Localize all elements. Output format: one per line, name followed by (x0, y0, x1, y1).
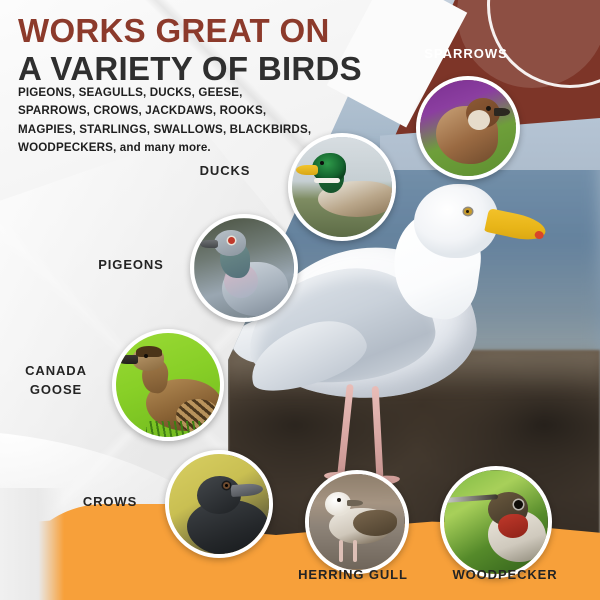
herring-gull-leg-left (339, 540, 343, 562)
herring-gull-leg-right (353, 540, 357, 562)
headline-line-2: A VARIETY OF BIRDS (18, 51, 418, 87)
gull-leg-left (337, 384, 354, 476)
crow-eye (223, 482, 230, 489)
duck-eye (320, 161, 324, 165)
label-herring-gull: HERRING GULL (288, 567, 418, 582)
herring-gull-eye (337, 498, 341, 502)
label-canada-goose: CANADA GOOSE (10, 362, 102, 400)
herring-gull-thumb (305, 470, 409, 574)
herring-gull-beak (347, 500, 363, 506)
woodpecker-thumb (440, 466, 552, 578)
sparrow-cheek (468, 110, 490, 130)
duck-beak (296, 165, 318, 175)
pigeon-photo (194, 218, 294, 318)
label-ducks: DUCKS (188, 163, 262, 178)
herring-gull-wing (353, 510, 397, 536)
sparrow-thumb (416, 76, 520, 180)
species-line-1: PIGEONS, SEAGULLS, DUCKS, GEESE, (18, 84, 348, 102)
duck-thumb (288, 133, 396, 241)
label-sparrows: SPARROWS (418, 46, 514, 61)
gull-leg-right (372, 386, 384, 478)
orange-band-left-fade (0, 488, 64, 600)
pigeon-beak (200, 240, 218, 248)
pigeon-thumb (190, 214, 298, 322)
gull-eye (464, 208, 472, 215)
goose-thumb (112, 329, 224, 441)
label-woodpecker: WOODPECKER (442, 567, 568, 582)
herring-gull-photo (309, 474, 405, 570)
duck-photo (292, 137, 392, 237)
woodpecker-eye (514, 500, 523, 509)
label-crows: CROWS (72, 494, 148, 509)
goose-grass (146, 421, 206, 437)
pigeon-eye (228, 237, 235, 244)
duck-neck-ring (314, 178, 340, 183)
woodpecker-throat (498, 514, 528, 538)
goose-beak (116, 355, 138, 364)
gull-beak (484, 208, 548, 244)
label-pigeons: PIGEONS (90, 257, 172, 272)
sparrow-eye (486, 106, 491, 111)
species-line-2: SPARROWS, CROWS, JACKDAWS, ROOKS, (18, 102, 348, 120)
headline-line-1: WORKS GREAT ON (18, 14, 418, 49)
sparrow-beak (494, 108, 510, 116)
goose-crown (136, 346, 162, 357)
gull-beak-spot (534, 230, 544, 240)
goose-eye (144, 354, 148, 358)
crow-photo (169, 454, 269, 554)
sparrow-photo (420, 80, 516, 176)
crow-thumb (165, 450, 273, 558)
woodpecker-photo (444, 470, 548, 574)
headline-block: WORKS GREAT ON A VARIETY OF BIRDS (18, 14, 418, 87)
goose-photo (116, 333, 220, 437)
bird-deterrent-poster: WORKS GREAT ON A VARIETY OF BIRDS PIGEON… (0, 0, 600, 600)
